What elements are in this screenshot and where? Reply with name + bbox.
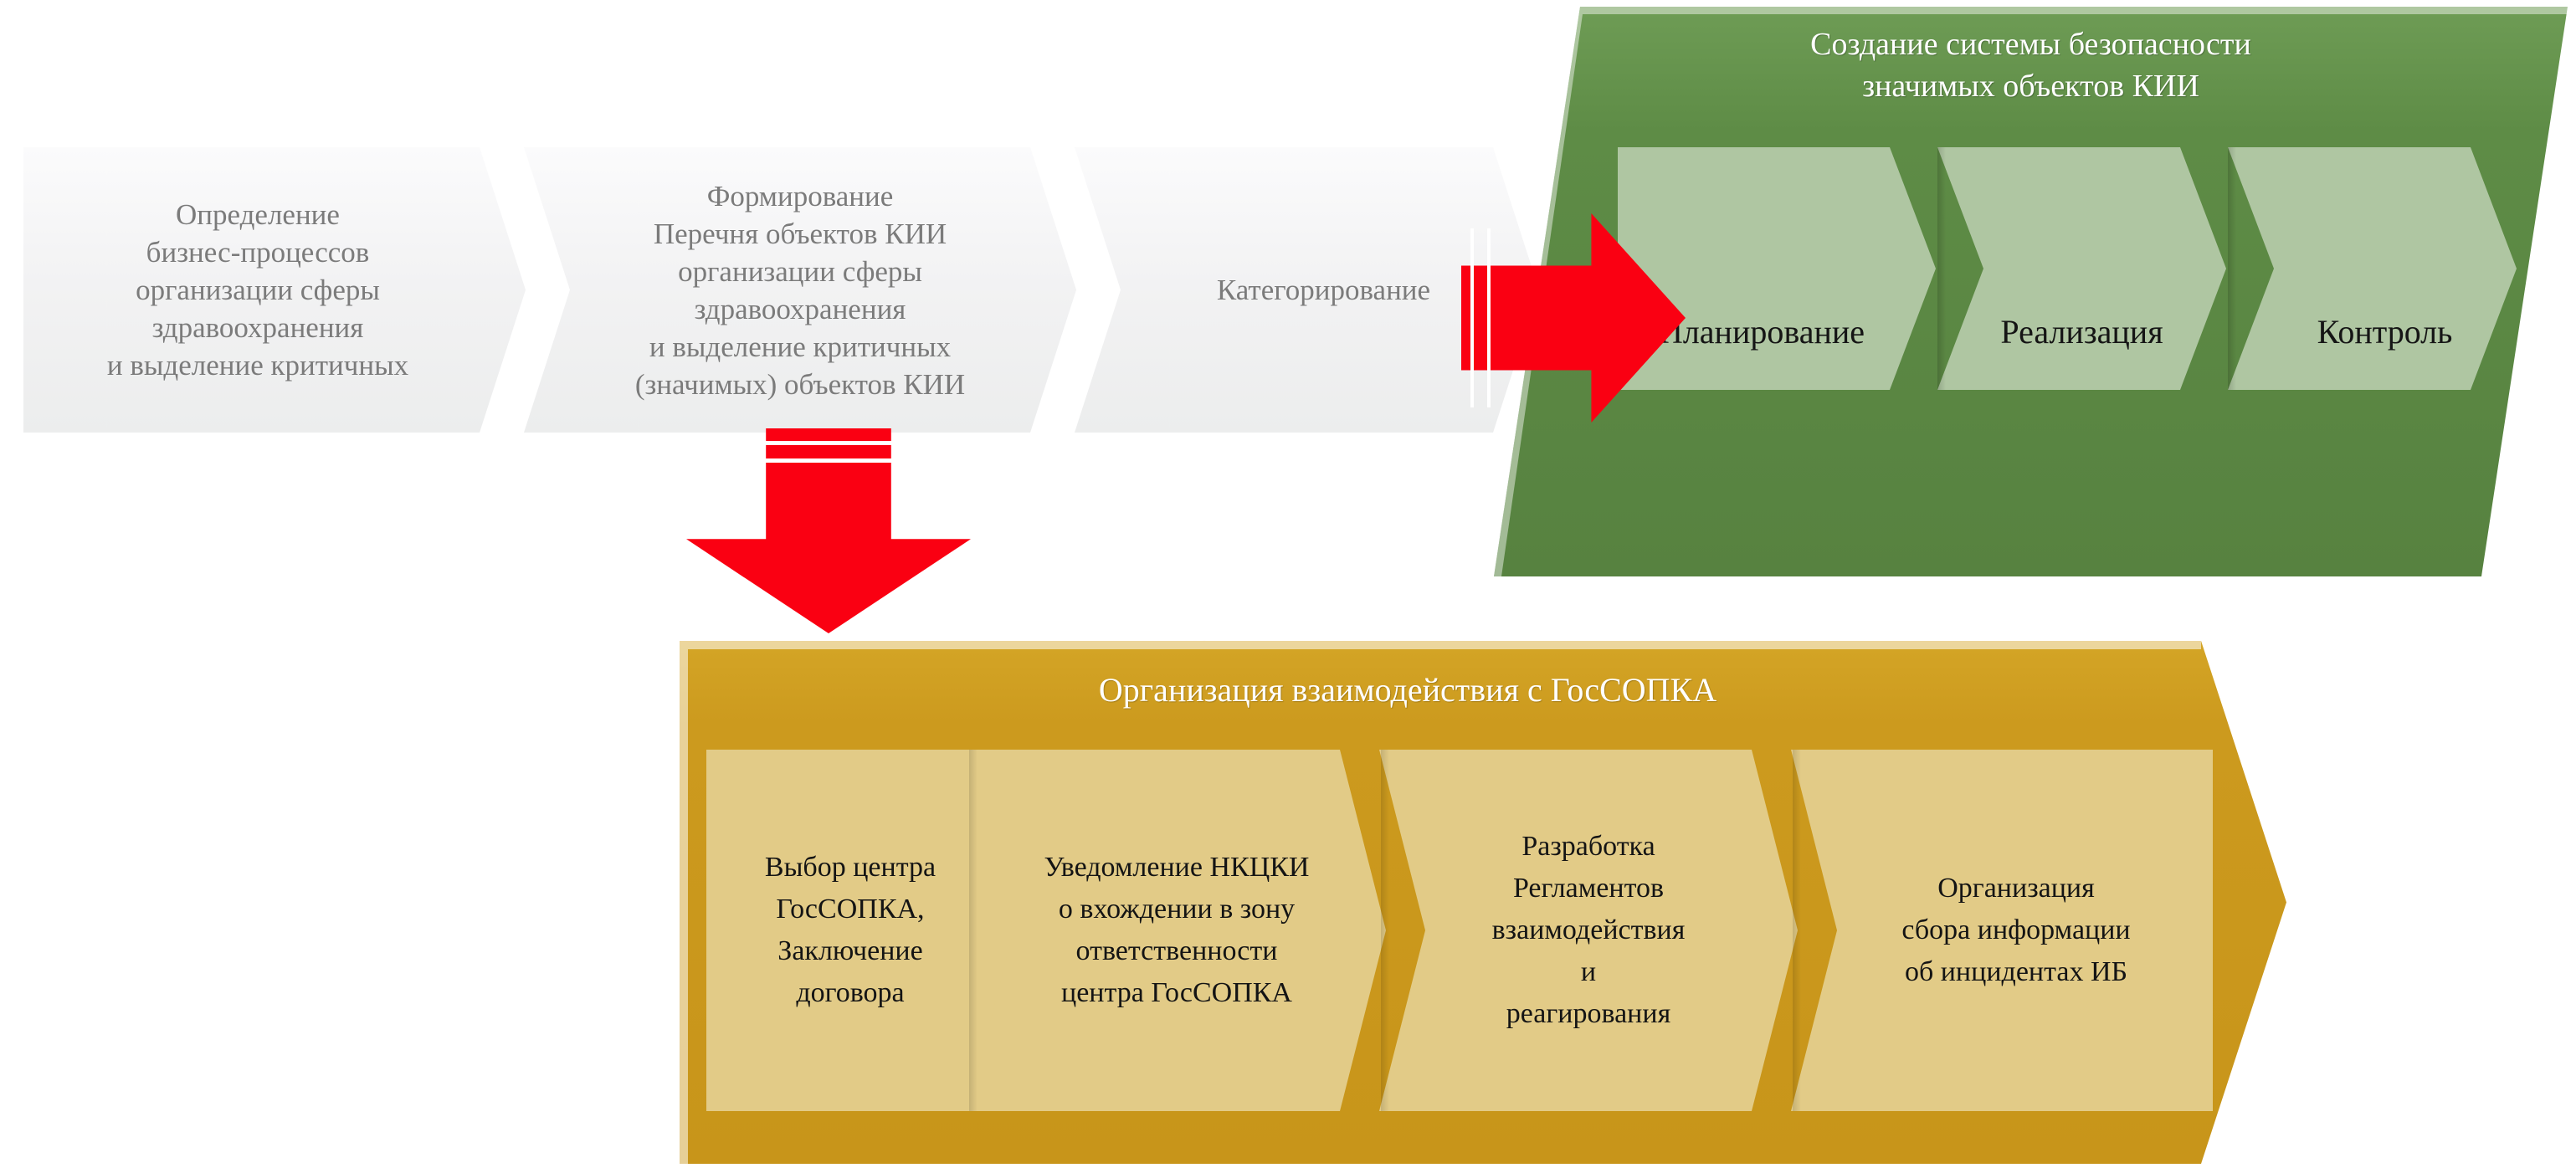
orange-step-3[interactable]: Разработка Регламентов взаимодействия и …: [1379, 750, 1798, 1111]
orange-step-4[interactable]: Организация сбора информации об инцидент…: [1791, 750, 2213, 1111]
orange-step-4-label: Организация сбора информации об инцидент…: [1901, 868, 2130, 993]
green-step-seam: [2228, 147, 2236, 390]
orange-step-seam: [1793, 750, 1801, 1111]
gray-process-row: Определение бизнес-процессов организации…: [23, 147, 1530, 436]
green-step-realizaciya[interactable]: Реализация: [1937, 147, 2226, 390]
green-step-seam: [1937, 147, 1946, 390]
orange-step-2[interactable]: Уведомление НКЦКИ о вхождении в зону отв…: [967, 750, 1386, 1111]
orange-block-title: Организация взаимодействия с ГосСОПКА: [680, 669, 2136, 711]
green-step-row: Планирование Реализация Контроль: [1618, 147, 2505, 390]
gray-step-3-label: Категорирование: [1217, 271, 1430, 309]
orange-step-seam: [1381, 750, 1389, 1111]
orange-step-2-label: Уведомление НКЦКИ о вхождении в зону отв…: [1044, 847, 1310, 1014]
green-step-planirovanie[interactable]: Планирование: [1618, 147, 1936, 390]
orange-step-row: Выбор центра ГосСОПКА, Заключение догово…: [706, 750, 2213, 1111]
green-step-2-label: Реализация: [2000, 313, 2163, 390]
gray-step-2-label: Формирование Перечня объектов КИИ органи…: [635, 177, 965, 403]
orange-step-3-label: Разработка Регламентов взаимодействия и …: [1492, 826, 1686, 1035]
diagram-canvas: Определение бизнес-процессов организации…: [0, 0, 2576, 1173]
gray-step-1[interactable]: Определение бизнес-процессов организации…: [23, 147, 526, 433]
orange-step-1-label: Выбор центра ГосСОПКА, Заключение догово…: [765, 847, 936, 1014]
green-step-kontrol[interactable]: Контроль: [2228, 147, 2517, 390]
gray-step-1-label: Определение бизнес-процессов организации…: [107, 196, 408, 384]
green-step-1-label: Планирование: [1659, 313, 1865, 390]
gray-step-2[interactable]: Формирование Перечня объектов КИИ органи…: [524, 147, 1076, 433]
red-right-arrow-stripe-icon: [1487, 228, 1491, 407]
red-down-arrow-stripe-icon: [766, 458, 894, 463]
red-right-arrow-stripe-icon: [1470, 228, 1474, 407]
green-block-title: Создание системы безопасности значимых о…: [1494, 23, 2568, 107]
orange-step-seam: [969, 750, 978, 1111]
orange-block: Организация взаимодействия с ГосСОПКА Вы…: [680, 641, 2286, 1164]
red-down-arrow-stripe-icon: [766, 441, 894, 445]
green-step-3-label: Контроль: [2317, 313, 2453, 390]
gray-divider-1: [521, 147, 527, 433]
